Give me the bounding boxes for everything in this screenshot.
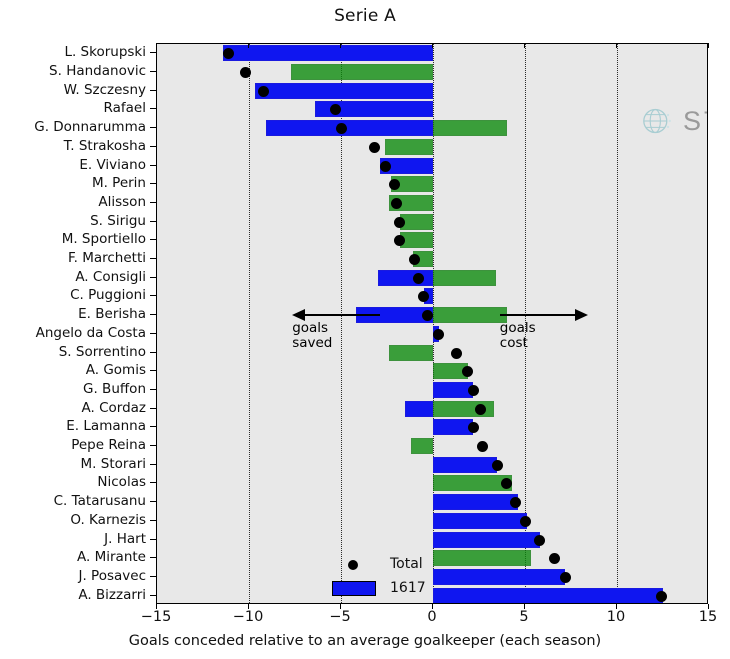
total-marker: [560, 572, 571, 583]
bar-1718: [291, 64, 433, 80]
x-axis-tick-top: [524, 43, 525, 48]
legend-item-1718: 1718: [332, 600, 426, 604]
y-axis-label: T. Strakosha: [64, 139, 146, 153]
bar-row: [157, 306, 707, 324]
x-axis-tick-label: 0: [427, 609, 436, 625]
total-marker: [462, 366, 473, 377]
x-axis-tick-label: −15: [141, 609, 172, 625]
legend-label-total: Total: [390, 556, 423, 572]
bar-row: [157, 63, 707, 81]
total-marker: [475, 404, 486, 415]
total-marker: [391, 198, 402, 209]
annotation-goals-saved-text: goals saved: [292, 321, 380, 351]
bar-row: [157, 194, 707, 212]
bar-1718: [433, 307, 507, 323]
y-axis-label: S. Sorrentino: [59, 345, 146, 359]
bar-row: [157, 157, 707, 175]
y-axis-label: J. Hart: [104, 532, 146, 546]
y-axis-label: Pepe Reina: [71, 438, 146, 452]
bar-row: [157, 269, 707, 287]
bar-row: [157, 287, 707, 305]
total-marker: [380, 161, 391, 172]
x-axis-tick-top: [432, 43, 433, 48]
y-axis-label: Alisson: [98, 195, 146, 209]
y-axis-label: M. Sportiello: [62, 232, 146, 246]
bar-row: [157, 418, 707, 436]
total-marker: [240, 67, 251, 78]
arrow-right: [500, 309, 588, 321]
bar-1718: [433, 550, 531, 566]
y-axis-label: M. Storari: [81, 457, 146, 471]
y-axis-label: E. Berisha: [78, 307, 146, 321]
bar-1617: [266, 120, 433, 136]
chart-title: Serie A: [0, 6, 730, 26]
y-axis-label: J. Posavec: [78, 569, 146, 583]
legend-label-1617: 1617: [390, 580, 426, 596]
bar-row: [157, 231, 707, 249]
bar-1718: [385, 139, 433, 155]
bar-row: [157, 175, 707, 193]
bar-row: [157, 568, 707, 586]
y-axis-label: W. Szczesny: [64, 83, 146, 97]
total-marker: [394, 217, 405, 228]
x-axis-tick-top: [156, 43, 157, 48]
annotation-goals-saved: goals saved: [292, 309, 380, 351]
bar-row: [157, 437, 707, 455]
y-axis-label: C. Tatarusanu: [54, 494, 146, 508]
bar-row: [157, 549, 707, 567]
bar-row: [157, 493, 707, 511]
bar-1617: [433, 494, 518, 510]
y-axis-label: S. Handanovic: [49, 64, 146, 78]
bar-1718: [433, 270, 496, 286]
x-axis-title: Goals conceded relative to an average go…: [0, 633, 730, 649]
chart-root: Serie A L. SkorupskiS. HandanovicW. Szcz…: [0, 0, 730, 659]
y-axis-label: Nicolas: [97, 475, 146, 489]
bar-row: [157, 531, 707, 549]
x-axis-tick-top: [340, 43, 341, 48]
bar-row: [157, 400, 707, 418]
y-axis-label: A. Mirante: [77, 550, 146, 564]
bar-row: [157, 82, 707, 100]
total-marker: [369, 142, 380, 153]
y-axis-label: L. Skorupski: [64, 45, 146, 59]
bar-1617: [255, 83, 433, 99]
bar-1718: [389, 345, 433, 361]
bar-row: [157, 381, 707, 399]
bar-1617: [223, 45, 433, 61]
bar-1617: [433, 569, 565, 585]
total-marker: [549, 553, 560, 564]
annotation-goals-cost: goals cost: [500, 309, 588, 351]
total-marker: [477, 441, 488, 452]
x-axis-tick-label: 15: [699, 609, 717, 625]
bar-1617: [433, 457, 497, 473]
bar-row: [157, 138, 707, 156]
total-marker: [520, 516, 531, 527]
total-marker: [492, 460, 503, 471]
legend-swatch-1617: [332, 581, 376, 596]
legend-item-1617: 1617: [332, 576, 426, 600]
bar-1617: [433, 513, 527, 529]
total-marker: [433, 329, 444, 340]
y-axis-label: A. Gomis: [86, 363, 146, 377]
bar-row: [157, 587, 707, 604]
x-axis-tick-label: −5: [329, 609, 350, 625]
bar-1617: [433, 532, 540, 548]
x-axis-tick-top: [616, 43, 617, 48]
bar-row: [157, 344, 707, 362]
legend-marker-total-dot: [332, 557, 376, 572]
y-axis-label: E. Viviano: [79, 158, 146, 172]
y-axis-label: G. Buffon: [83, 382, 146, 396]
bar-row: [157, 119, 707, 137]
total-marker: [656, 591, 667, 602]
annotation-goals-cost-text: goals cost: [500, 321, 588, 351]
x-axis-tick-label: 10: [607, 609, 625, 625]
bar-1718: [433, 120, 507, 136]
legend-item-total: Total: [332, 552, 426, 576]
y-axis-label: S. Sirigu: [90, 214, 146, 228]
plot-area: STRATABET goals saved goals cost Total: [156, 43, 708, 604]
y-axis-label: F. Marchetti: [68, 251, 146, 265]
bar-row: [157, 213, 707, 231]
bar-1617: [405, 401, 433, 417]
y-axis-label: G. Donnarumma: [34, 120, 146, 134]
y-axis-label: Angelo da Costa: [36, 326, 146, 340]
bar-row: [157, 512, 707, 530]
y-axis-label: A. Bizzarri: [78, 588, 146, 602]
y-axis-label: M. Perin: [92, 176, 146, 190]
bar-row: [157, 474, 707, 492]
bar-row: [157, 250, 707, 268]
bar-row: [157, 362, 707, 380]
bar-row: [157, 456, 707, 474]
y-axis-label: A. Cordaz: [81, 401, 146, 415]
x-axis-tick-label: −10: [233, 609, 264, 625]
x-axis-tick-top: [248, 43, 249, 48]
total-marker: [258, 86, 269, 97]
total-marker: [468, 385, 479, 396]
x-axis-tick-top: [708, 43, 709, 48]
total-marker: [413, 273, 424, 284]
y-axis-label: O. Karnezis: [70, 513, 146, 527]
total-marker: [451, 348, 462, 359]
arrow-left: [292, 309, 380, 321]
bar-1718: [411, 438, 433, 454]
total-marker: [534, 535, 545, 546]
y-axis-label: A. Consigli: [75, 270, 146, 284]
total-marker: [468, 422, 479, 433]
x-axis-tick-label: 5: [519, 609, 528, 625]
bar-row: [157, 325, 707, 343]
total-marker: [510, 497, 521, 508]
bar-1617: [433, 588, 663, 604]
y-axis-label: C. Puggioni: [70, 288, 146, 302]
y-axis-label: E. Lamanna: [66, 419, 146, 433]
y-axis-label: Rafael: [104, 101, 146, 115]
bar-1617: [378, 270, 433, 286]
legend: Total 1617 1718: [332, 552, 426, 604]
total-marker: [336, 123, 347, 134]
bar-row: [157, 100, 707, 118]
